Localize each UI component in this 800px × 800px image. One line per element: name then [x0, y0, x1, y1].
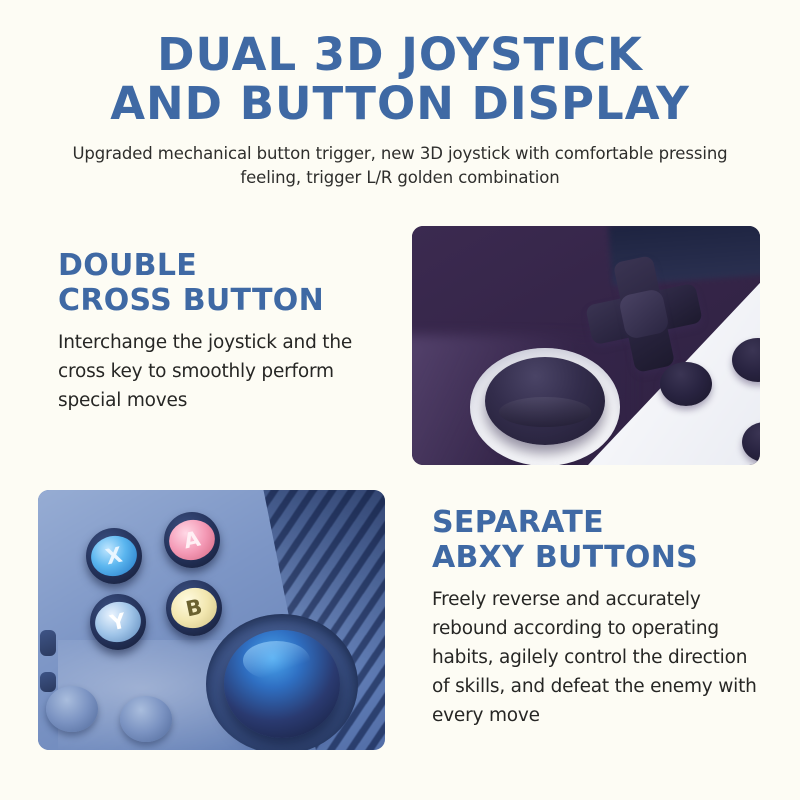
shoulder-tab-2 [40, 672, 56, 692]
page-title: DUAL 3D JOYSTICK AND BUTTON DISPLAY [0, 30, 800, 128]
button-y: Y [90, 594, 146, 650]
feature-heading-line-1: DOUBLE [58, 248, 197, 283]
button-y-label: Y [91, 598, 144, 647]
page-subtitle-line-1: Upgraded mechanical button trigger, new … [72, 144, 653, 163]
joystick-cap [485, 357, 605, 445]
button-b-label: B [167, 584, 220, 633]
button-b: B [166, 580, 222, 636]
abxy-joystick-photo: X A Y B [38, 490, 385, 750]
button-x: X [86, 528, 142, 584]
feature-heading-line-1: SEPARATE [432, 505, 604, 540]
shoulder-tab-1 [40, 630, 56, 656]
lower-button-1 [46, 686, 98, 732]
action-button-1 [660, 362, 712, 406]
abxy-photo-scene: X A Y B [38, 490, 385, 750]
feature-heading-double-cross-button: DOUBLE CROSS BUTTON [58, 248, 378, 318]
feature-body-double-cross-button: Interchange the joystick and the cross k… [58, 328, 378, 415]
joystick-cap [224, 630, 340, 738]
button-a: A [164, 512, 220, 568]
lower-button-2 [120, 696, 172, 742]
feature-separate-abxy-buttons: SEPARATE ABXY BUTTONS Freely reverse and… [432, 505, 762, 730]
dpad-photo-scene [412, 226, 760, 465]
dpad-cross-icon [578, 248, 711, 381]
button-x-label: X [87, 532, 140, 581]
page-title-line-1: DUAL 3D JOYSTICK [157, 28, 643, 81]
feature-double-cross-button: DOUBLE CROSS BUTTON Interchange the joys… [58, 248, 378, 415]
feature-heading-line-2: ABXY BUTTONS [432, 540, 698, 575]
feature-heading-line-2: CROSS BUTTON [58, 283, 324, 318]
dpad-joystick-photo [412, 226, 760, 465]
page-title-line-2: AND BUTTON DISPLAY [110, 77, 690, 130]
feature-heading-separate-abxy-buttons: SEPARATE ABXY BUTTONS [432, 505, 762, 575]
feature-body-separate-abxy-buttons: Freely reverse and accurately rebound ac… [432, 585, 762, 730]
page-header: DUAL 3D JOYSTICK AND BUTTON DISPLAY Upgr… [0, 30, 800, 190]
button-a-label: A [165, 516, 218, 565]
page-subtitle: Upgraded mechanical button trigger, new … [55, 142, 745, 190]
